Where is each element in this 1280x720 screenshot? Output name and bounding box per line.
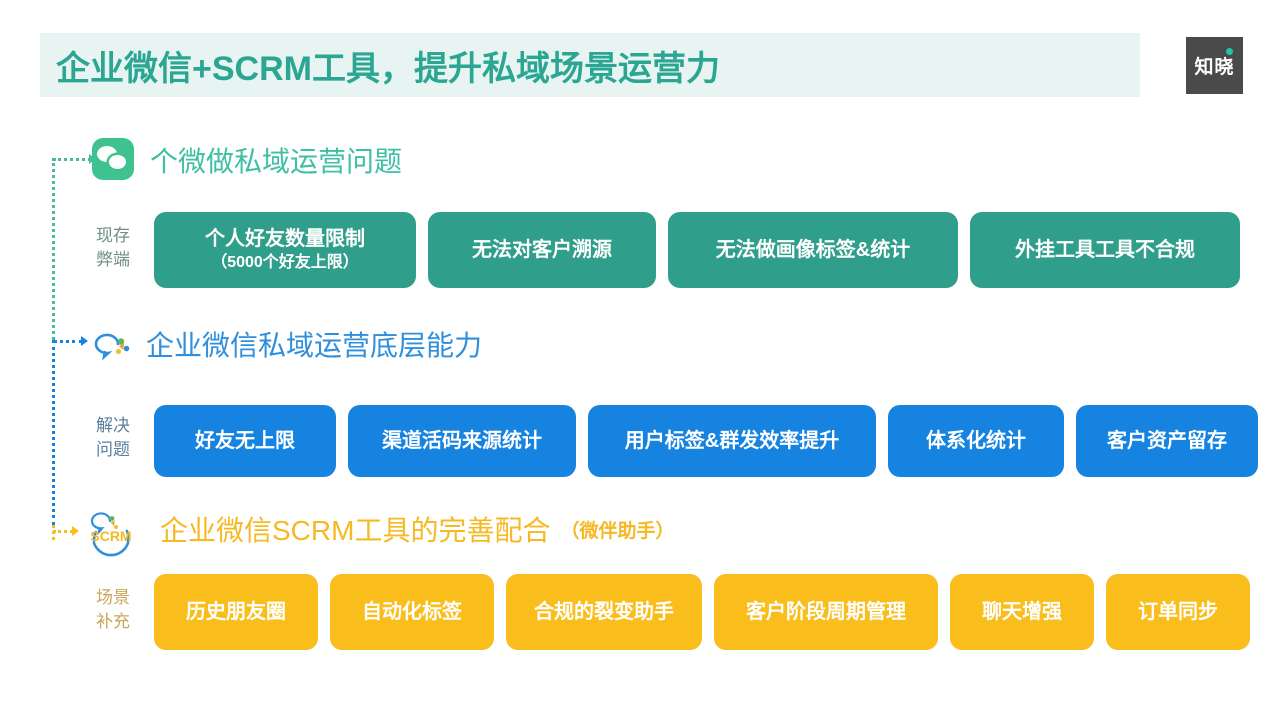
row-label-solutions: 解决 问题	[82, 414, 144, 462]
card-item[interactable]: 好友无上限	[154, 405, 336, 477]
card-line-1: 用户标签&群发效率提升	[625, 428, 839, 454]
scrm-icon: SCRM	[80, 507, 154, 551]
card-line-1: 订单同步	[1138, 599, 1218, 625]
rail-branch-2	[53, 340, 83, 343]
logo-text: 知晓	[1194, 52, 1234, 79]
row-label-line-1: 场景	[82, 586, 144, 610]
card-item[interactable]: 渠道活码来源统计	[348, 405, 576, 477]
card-line-1: 合规的裂变助手	[534, 599, 674, 625]
page-title: 企业微信+SCRM工具，提升私域场景运营力	[56, 41, 720, 90]
rail-arrow-3	[72, 526, 79, 536]
rail-segment-teal	[52, 158, 55, 340]
svg-text:SCRM: SCRM	[90, 528, 131, 544]
card-line-1: 历史朋友圈	[186, 599, 286, 625]
card-item[interactable]: 客户资产留存	[1076, 405, 1258, 477]
card-item[interactable]: 历史朋友圈	[154, 574, 318, 650]
card-item[interactable]: 聊天增强	[950, 574, 1094, 650]
row-label-scenario-supplement: 场景 补充	[82, 586, 144, 634]
rail-branch-1	[53, 158, 91, 161]
card-item[interactable]: 自动化标签	[330, 574, 494, 650]
card-line-1: 个人好友数量限制	[205, 226, 365, 252]
card-item[interactable]: 无法做画像标签&统计	[668, 212, 958, 288]
section-title-2: 企业微信私域运营底层能力	[146, 324, 482, 364]
card-item[interactable]: 外挂工具工具不合规	[970, 212, 1240, 288]
section-subtitle-3: （微伴助手）	[560, 516, 674, 543]
card-line-1: 好友无上限	[195, 428, 295, 454]
row-label-existing-problems: 现存 弊端	[82, 224, 144, 272]
card-item[interactable]: 合规的裂变助手	[506, 574, 702, 650]
section-title-3: 企业微信SCRM工具的完善配合	[160, 509, 550, 549]
section-title-1: 个微做私域运营问题	[150, 140, 402, 180]
card-item[interactable]: 客户阶段周期管理	[714, 574, 938, 650]
card-item[interactable]: 个人好友数量限制 （5000个好友上限）	[154, 212, 416, 288]
card-item[interactable]: 体系化统计	[888, 405, 1064, 477]
wechat-icon	[92, 138, 136, 182]
card-item[interactable]: 用户标签&群发效率提升	[588, 405, 876, 477]
card-row-scenario-supplement: 历史朋友圈 自动化标签 合规的裂变助手 客户阶段周期管理 聊天增强 订单同步	[154, 574, 1250, 650]
rail-arrow-2	[81, 336, 88, 346]
section-header-scrm: SCRM 企业微信SCRM工具的完善配合 （微伴助手）	[80, 505, 674, 553]
card-row-solutions: 好友无上限 渠道活码来源统计 用户标签&群发效率提升 体系化统计 客户资产留存	[154, 405, 1258, 477]
work-wechat-icon	[88, 322, 132, 366]
card-line-2: （5000个好友上限）	[211, 252, 359, 274]
header-banner: 企业微信+SCRM工具，提升私域场景运营力	[40, 33, 1140, 97]
card-line-1: 自动化标签	[362, 599, 462, 625]
card-row-existing-problems: 个人好友数量限制 （5000个好友上限） 无法对客户溯源 无法做画像标签&统计 …	[154, 212, 1240, 288]
rail-branch-3	[53, 530, 73, 533]
card-line-1: 客户资产留存	[1107, 428, 1227, 454]
card-line-1: 渠道活码来源统计	[382, 428, 542, 454]
logo-dot-icon	[1226, 48, 1233, 55]
row-label-line-2: 问题	[82, 438, 144, 462]
card-line-1: 体系化统计	[926, 428, 1026, 454]
card-line-1: 聊天增强	[982, 599, 1062, 625]
card-line-1: 无法对客户溯源	[472, 237, 612, 263]
card-line-1: 外挂工具工具不合规	[1015, 237, 1195, 263]
brand-logo: 知晓	[1186, 37, 1243, 94]
row-label-line-2: 弊端	[82, 248, 144, 272]
row-label-line-2: 补充	[82, 610, 144, 634]
row-label-line-1: 解决	[82, 414, 144, 438]
row-label-line-1: 现存	[82, 224, 144, 248]
card-line-1: 无法做画像标签&统计	[716, 237, 910, 263]
section-header-wechat: 个微做私域运营问题	[92, 136, 402, 184]
rail-segment-blue	[52, 340, 55, 525]
card-line-1: 客户阶段周期管理	[746, 599, 906, 625]
card-item[interactable]: 订单同步	[1106, 574, 1250, 650]
card-item[interactable]: 无法对客户溯源	[428, 212, 656, 288]
section-header-work-wechat: 企业微信私域运营底层能力	[88, 320, 482, 368]
